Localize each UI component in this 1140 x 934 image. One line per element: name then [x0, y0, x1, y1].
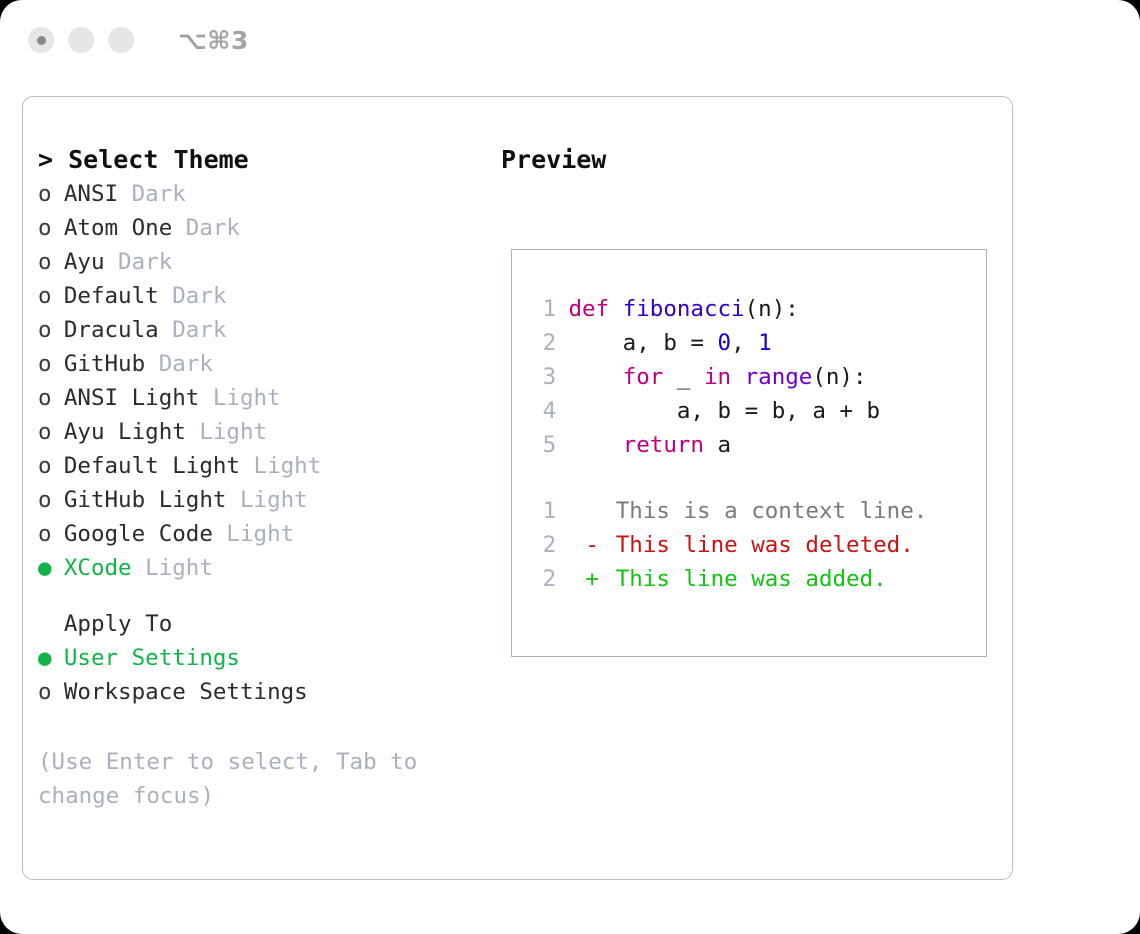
theme-option-name: XCode — [64, 555, 132, 581]
diff-line: 2-This line was deleted. — [528, 528, 927, 562]
code-line: 1def fibonacci(n): — [528, 292, 880, 326]
theme-option-row[interactable]: oGitHub Light Light — [38, 483, 498, 517]
code-line-number: 5 — [528, 428, 556, 462]
code-line: 5 return a — [528, 428, 880, 462]
diff-line: 2+This line was added. — [528, 562, 927, 596]
diff-text: This line was added. — [616, 566, 887, 592]
diff-line-number: 2 — [528, 562, 556, 596]
code-token — [569, 364, 623, 390]
code-line-number: 3 — [528, 360, 556, 394]
diff-text: This line was deleted. — [616, 532, 914, 558]
theme-option-kind: Dark — [172, 215, 240, 241]
section-spacer — [38, 585, 498, 607]
app-root: ⌥⌘3 > Select Theme oANSI DarkoAtom One D… — [0, 0, 1140, 934]
theme-option-row[interactable]: oAtom One Dark — [38, 211, 498, 245]
diff-text: This is a context line. — [616, 498, 928, 524]
diff-line: 1 This is a context line. — [528, 494, 927, 528]
theme-option-name: Google Code — [64, 521, 213, 547]
diff-marker: - — [569, 528, 616, 562]
apply-to-heading-row: oApply To — [38, 607, 498, 641]
window-dot-maximize[interactable] — [108, 27, 134, 53]
code-sample: 1def fibonacci(n):2 a, b = 0, 13 for _ i… — [528, 292, 880, 462]
code-token: def — [569, 296, 623, 322]
theme-option-kind: Light — [199, 385, 280, 411]
radio-unselected-icon: o — [38, 517, 64, 551]
radio-unselected-icon: o — [38, 381, 64, 415]
theme-option-row[interactable]: oDefault Light Light — [38, 449, 498, 483]
theme-option-name: ANSI Light — [64, 385, 199, 411]
diff-line-number: 2 — [528, 528, 556, 562]
apply-to-option-name: Workspace Settings — [64, 679, 308, 705]
keyboard-hint-text: (Use Enter to select, Tab to change focu… — [38, 745, 438, 813]
window-columns: > Select Theme oANSI DarkoAtom One Darko… — [23, 97, 1012, 879]
select-theme-heading: > Select Theme — [38, 143, 498, 177]
code-token: fibonacci — [623, 296, 745, 322]
theme-option-kind: Dark — [159, 283, 227, 309]
code-token: a, b = — [569, 330, 718, 356]
radio-unselected-icon: o — [38, 449, 64, 483]
theme-option-row[interactable]: oAyu Light Light — [38, 415, 498, 449]
theme-option-row[interactable]: ●XCode Light — [38, 551, 498, 585]
code-token — [569, 432, 623, 458]
theme-option-kind: Light — [132, 555, 213, 581]
diff-line-number: 1 — [528, 494, 556, 528]
window-dot-minimize[interactable] — [68, 27, 94, 53]
theme-option-kind: Dark — [159, 317, 227, 343]
radio-unselected-icon: o — [38, 415, 64, 449]
preview-heading: Preview — [501, 143, 1001, 177]
theme-option-row[interactable]: oDracula Dark — [38, 313, 498, 347]
theme-option-kind: Light — [213, 521, 294, 547]
code-token: 0 — [718, 330, 732, 356]
theme-option-name: Ayu — [64, 249, 105, 275]
theme-option-kind: Light — [186, 419, 267, 445]
radio-unselected-icon: o — [38, 675, 64, 709]
preview-panel: Preview 1def fibonacci(n):2 a, b = 0, 13… — [501, 143, 1001, 177]
theme-option-name: GitHub Light — [64, 487, 227, 513]
apply-to-heading-marker: o — [38, 607, 64, 641]
radio-selected-icon: ● — [38, 551, 64, 585]
radio-unselected-icon: o — [38, 245, 64, 279]
theme-option-name: ANSI — [64, 181, 118, 207]
code-line-number: 1 — [528, 292, 556, 326]
code-token: , — [731, 330, 758, 356]
apply-to-list[interactable]: ●User SettingsoWorkspace Settings — [38, 641, 498, 709]
theme-option-row[interactable]: oANSI Light Light — [38, 381, 498, 415]
theme-option-row[interactable]: oDefault Dark — [38, 279, 498, 313]
code-line-number: 4 — [528, 394, 556, 428]
theme-option-name: GitHub — [64, 351, 145, 377]
theme-option-name: Ayu Light — [64, 419, 186, 445]
keyboard-shortcut-label: ⌥⌘3 — [178, 26, 249, 55]
radio-unselected-icon: o — [38, 177, 64, 211]
diff-marker: + — [569, 562, 616, 596]
window-dot-active-indicator — [37, 36, 46, 45]
window-dot-close[interactable] — [28, 27, 54, 53]
diff-sample: 1 This is a context line.2-This line was… — [528, 494, 927, 596]
theme-option-name: Default — [64, 283, 159, 309]
radio-selected-icon: ● — [38, 641, 64, 675]
code-token: (n): — [812, 364, 866, 390]
code-token: range — [745, 364, 813, 390]
code-token: (n): — [745, 296, 799, 322]
radio-unselected-icon: o — [38, 313, 64, 347]
theme-option-name: Default Light — [64, 453, 240, 479]
code-token: for — [623, 364, 664, 390]
preview-box: 1def fibonacci(n):2 a, b = 0, 13 for _ i… — [511, 249, 987, 657]
code-line: 3 for _ in range(n): — [528, 360, 880, 394]
title-bar: ⌥⌘3 — [0, 0, 1140, 80]
code-token: in — [704, 364, 731, 390]
theme-option-name: Atom One — [64, 215, 172, 241]
code-line: 4 a, b = b, a + b — [528, 394, 880, 428]
code-token: return — [623, 432, 704, 458]
main-window: > Select Theme oANSI DarkoAtom One Darko… — [22, 96, 1013, 880]
theme-option-kind: Dark — [105, 249, 173, 275]
apply-to-option-name: User Settings — [64, 645, 240, 671]
code-token: _ — [663, 364, 704, 390]
code-line: 2 a, b = 0, 1 — [528, 326, 880, 360]
theme-selection-panel: > Select Theme oANSI DarkoAtom One Darko… — [38, 143, 498, 813]
code-token — [731, 364, 745, 390]
theme-option-kind: Dark — [145, 351, 213, 377]
radio-unselected-icon: o — [38, 483, 64, 517]
apply-to-option-row[interactable]: ●User Settings — [38, 641, 498, 675]
code-token: 1 — [758, 330, 772, 356]
theme-option-kind: Light — [240, 453, 321, 479]
diff-marker — [569, 494, 616, 528]
code-token: a — [704, 432, 731, 458]
theme-list[interactable]: oANSI DarkoAtom One DarkoAyu DarkoDefaul… — [38, 177, 498, 585]
theme-option-kind: Light — [226, 487, 307, 513]
theme-option-name: Dracula — [64, 317, 159, 343]
radio-unselected-icon: o — [38, 347, 64, 381]
theme-option-kind: Dark — [118, 181, 186, 207]
apply-to-option-row[interactable]: oWorkspace Settings — [38, 675, 498, 709]
theme-option-row[interactable]: oAyu Dark — [38, 245, 498, 279]
code-token: a, b = b, a + b — [569, 398, 881, 424]
apply-to-heading-label: Apply To — [64, 611, 172, 637]
code-line-number: 2 — [528, 326, 556, 360]
theme-option-row[interactable]: oGitHub Dark — [38, 347, 498, 381]
radio-unselected-icon: o — [38, 279, 64, 313]
radio-unselected-icon: o — [38, 211, 64, 245]
theme-option-row[interactable]: oGoogle Code Light — [38, 517, 498, 551]
theme-option-row[interactable]: oANSI Dark — [38, 177, 498, 211]
